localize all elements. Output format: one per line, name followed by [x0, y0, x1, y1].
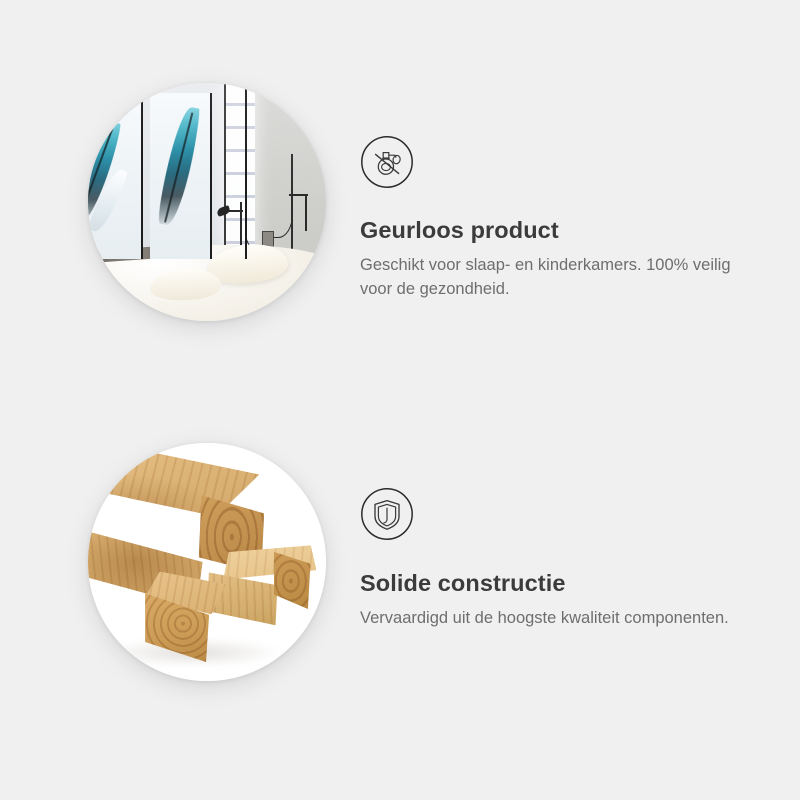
- bedroom-scene: [88, 83, 326, 321]
- wood-scene: [88, 443, 326, 681]
- art-panel-3: [219, 88, 248, 259]
- feature-block-solide-constructie: Solide constructie Vervaardigd uit de ho…: [0, 420, 800, 780]
- second-lamp-stem: [305, 195, 307, 231]
- wooden-beams-photo: [88, 443, 326, 681]
- feather-2: [156, 105, 200, 227]
- art-panel-1: [88, 100, 143, 259]
- feature-text-2: Solide constructie Vervaardigd uit de ho…: [360, 487, 760, 630]
- product-features-page: Geurloos product Geschikt voor slaap- en…: [0, 0, 800, 800]
- bedroom-feather-art-photo: [88, 83, 326, 321]
- photo-inner: [88, 83, 326, 321]
- feature-description: Geschikt voor slaap- en kinderkamers. 10…: [360, 253, 752, 301]
- shield-icon: [360, 487, 414, 541]
- feature-block-geurloos-product: Geurloos product Geschikt voor slaap- en…: [0, 60, 800, 420]
- feature-text-1: Geurloos product Geschikt voor slaap- en…: [360, 135, 760, 301]
- second-lamp-arm: [289, 194, 308, 196]
- photo-inner: [88, 443, 326, 681]
- feature-title: Solide constructie: [360, 569, 760, 597]
- feature-description: Vervaardigd uit de hoogste kwaliteit com…: [360, 606, 752, 630]
- art-panel-2: [150, 93, 212, 260]
- feature-title: Geurloos product: [360, 216, 760, 244]
- no-fragrance-icon: [360, 135, 414, 189]
